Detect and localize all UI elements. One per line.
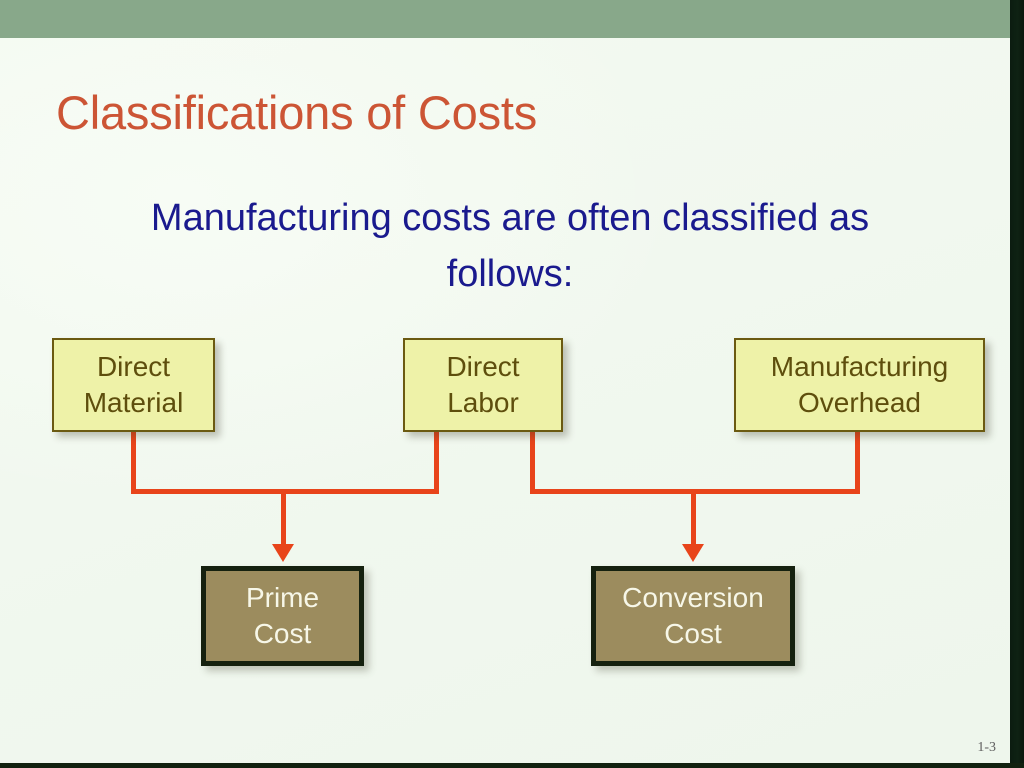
node-direct-material-line-1: Direct: [97, 349, 170, 385]
connector-manufacturing-overhead-vertical: [855, 432, 860, 494]
subtitle-line-1: Manufacturing costs are often: [151, 197, 652, 239]
node-conversion-cost-line-2: Cost: [664, 616, 722, 652]
node-prime-cost[interactable]: Prime Cost: [201, 566, 364, 666]
bottom-decorative-strip: [0, 763, 1024, 768]
node-prime-cost-line-1: Prime: [246, 580, 319, 616]
node-direct-labor-line-1: Direct: [446, 349, 519, 385]
node-prime-cost-line-2: Cost: [254, 616, 312, 652]
page-number: 1-3: [977, 740, 996, 756]
node-direct-material[interactable]: Direct Material: [52, 338, 215, 432]
connector-prime-drop: [281, 489, 286, 546]
top-decorative-band: [0, 0, 1010, 38]
node-manufacturing-overhead-line-1: Manufacturing: [771, 349, 948, 385]
right-decorative-strip: [1010, 0, 1024, 768]
connector-direct-labor-right-vertical: [530, 432, 535, 494]
node-manufacturing-overhead-line-2: Overhead: [798, 385, 921, 421]
slide-canvas: Classifications of Costs Manufacturing c…: [0, 0, 1024, 768]
arrow-to-prime-cost: [272, 544, 294, 562]
connector-direct-labor-left-vertical: [434, 432, 439, 494]
slide-title: Classifications of Costs: [56, 88, 537, 137]
node-conversion-cost[interactable]: Conversion Cost: [591, 566, 795, 666]
connector-direct-material-vertical: [131, 432, 136, 494]
node-direct-labor[interactable]: Direct Labor: [403, 338, 563, 432]
connector-conversion-drop: [691, 489, 696, 546]
node-direct-labor-line-2: Labor: [447, 385, 519, 421]
node-manufacturing-overhead[interactable]: Manufacturing Overhead: [734, 338, 985, 432]
node-conversion-cost-line-1: Conversion: [622, 580, 764, 616]
arrow-to-conversion-cost: [682, 544, 704, 562]
node-direct-material-line-2: Material: [84, 385, 184, 421]
slide-subtitle: Manufacturing costs are often classified…: [130, 190, 890, 302]
